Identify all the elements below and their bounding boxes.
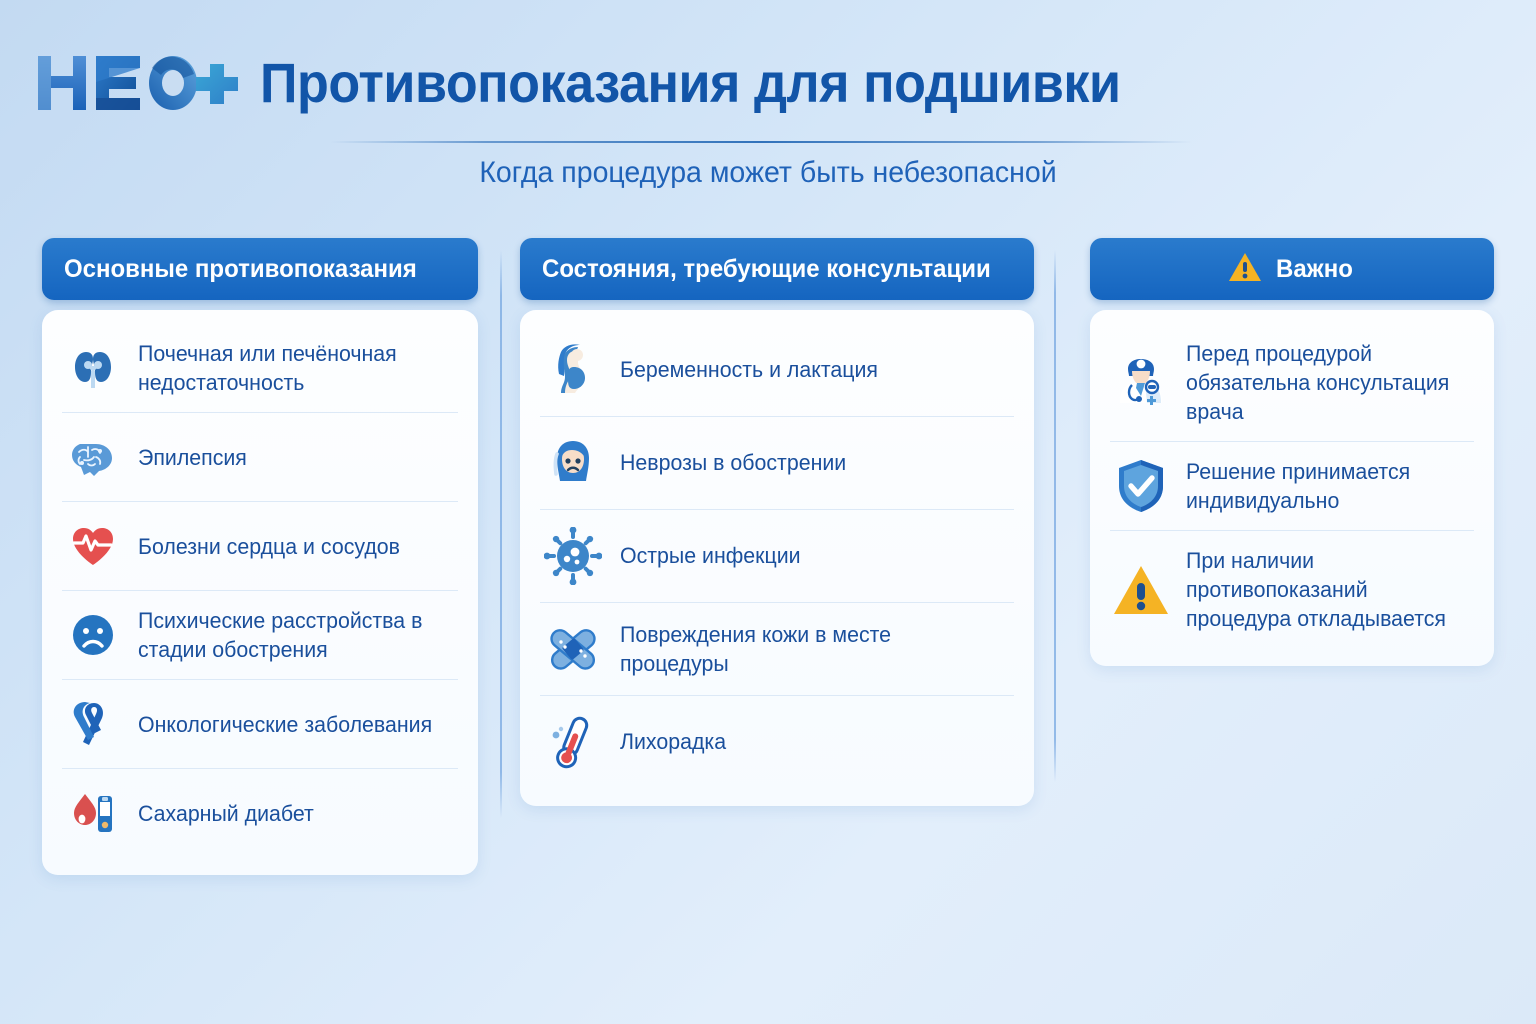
blood-drop-glucometer-icon bbox=[64, 784, 122, 842]
list-item[interactable]: Онкологические заболевания bbox=[62, 680, 458, 769]
column-consultation-required: Состояния, требующие консультации Береме… bbox=[520, 238, 1034, 806]
list-item[interactable]: Лихорадка bbox=[540, 696, 1014, 788]
virus-icon bbox=[542, 525, 604, 587]
list-item-label: Почечная или печёночная недостаточность bbox=[138, 339, 446, 397]
list-item-label: Неврозы в обострении bbox=[620, 448, 846, 477]
heart-pulse-icon bbox=[64, 517, 122, 575]
title-divider bbox=[330, 141, 1192, 143]
content-columns: Основные противопоказания Почечная или п… bbox=[0, 238, 1536, 875]
column-1-title: Основные противопоказания bbox=[64, 255, 417, 284]
list-item-label: Психические расстройства в стадии обостр… bbox=[138, 606, 446, 664]
list-item[interactable]: Почечная или печёночная недостаточность bbox=[62, 324, 458, 413]
list-item-label: Решение принимается индивидуально bbox=[1186, 457, 1463, 515]
list-item-label: При наличии противопоказаний процедура о… bbox=[1186, 546, 1463, 633]
column-divider-2 bbox=[1054, 250, 1056, 782]
list-item-label: Онкологические заболевания bbox=[138, 710, 432, 739]
list-item[interactable]: Болезни сердца и сосудов bbox=[62, 502, 458, 591]
column-main-contraindications: Основные противопоказания Почечная или п… bbox=[42, 238, 478, 875]
list-item[interactable]: Острые инфекции bbox=[540, 510, 1014, 603]
list-item-label: Лихорадка bbox=[620, 727, 726, 756]
sad-face-icon bbox=[64, 606, 122, 664]
column-1-header: Основные противопоказания bbox=[42, 238, 478, 300]
list-item-label: Беременность и лактация bbox=[620, 355, 878, 384]
awareness-ribbon-icon bbox=[64, 695, 122, 753]
page-subtitle: Когда процедура может быть небезопасной bbox=[38, 156, 1497, 190]
list-item[interactable]: Неврозы в обострении bbox=[540, 417, 1014, 510]
kidneys-icon bbox=[64, 339, 122, 397]
stressed-woman-icon bbox=[542, 432, 604, 494]
warning-triangle-icon bbox=[1228, 251, 1262, 288]
brain-icon bbox=[64, 428, 122, 486]
list-item[interactable]: Психические расстройства в стадии обостр… bbox=[62, 591, 458, 680]
list-item-label: Повреждения кожи в месте процедуры bbox=[620, 620, 1000, 678]
list-item[interactable]: Беременность и лактация bbox=[540, 324, 1014, 417]
column-2-title: Состояния, требующие консультации bbox=[542, 255, 991, 284]
bandage-icon bbox=[542, 618, 604, 680]
list-item-label: Эпилепсия bbox=[138, 443, 247, 472]
column-important: Важно bbox=[1090, 238, 1494, 666]
list-item[interactable]: Эпилепсия bbox=[62, 413, 458, 502]
column-3-title: Важно bbox=[1276, 255, 1353, 284]
thermometer-icon bbox=[542, 711, 604, 773]
page-header: Противопоказания для подшивки Когда проц… bbox=[0, 0, 1536, 210]
brand-row: Противопоказания для подшивки bbox=[36, 44, 1185, 122]
column-1-body: Почечная или печёночная недостаточность bbox=[42, 310, 478, 875]
column-2-body: Беременность и лактация Неврозы в обостр… bbox=[520, 310, 1034, 806]
pregnant-woman-icon bbox=[542, 339, 604, 401]
column-3-header: Важно bbox=[1090, 238, 1494, 300]
list-item[interactable]: Повреждения кожи в месте процедуры bbox=[540, 603, 1014, 696]
list-item[interactable]: При наличии противопоказаний процедура о… bbox=[1110, 531, 1474, 648]
column-divider-1 bbox=[500, 250, 502, 818]
list-item[interactable]: Решение принимается индивидуально bbox=[1110, 442, 1474, 531]
column-3-body: Перед процедурой обязательна консультаци… bbox=[1090, 310, 1494, 666]
list-item-label: Острые инфекции bbox=[620, 541, 801, 570]
list-item-label: Сахарный диабет bbox=[138, 799, 314, 828]
list-item[interactable]: Перед процедурой обязательна консультаци… bbox=[1110, 324, 1474, 442]
column-2-header: Состояния, требующие консультации bbox=[520, 238, 1034, 300]
page-title: Противопоказания для подшивки bbox=[260, 55, 1121, 111]
warning-triangle-icon bbox=[1112, 561, 1170, 619]
list-item-label: Болезни сердца и сосудов bbox=[138, 532, 400, 561]
list-item-label: Перед процедурой обязательна консультаци… bbox=[1186, 339, 1463, 426]
neo-plus-logo-icon bbox=[36, 52, 242, 114]
doctor-icon bbox=[1112, 354, 1170, 412]
list-item[interactable]: Сахарный диабет bbox=[62, 769, 458, 857]
shield-check-icon bbox=[1112, 457, 1170, 515]
